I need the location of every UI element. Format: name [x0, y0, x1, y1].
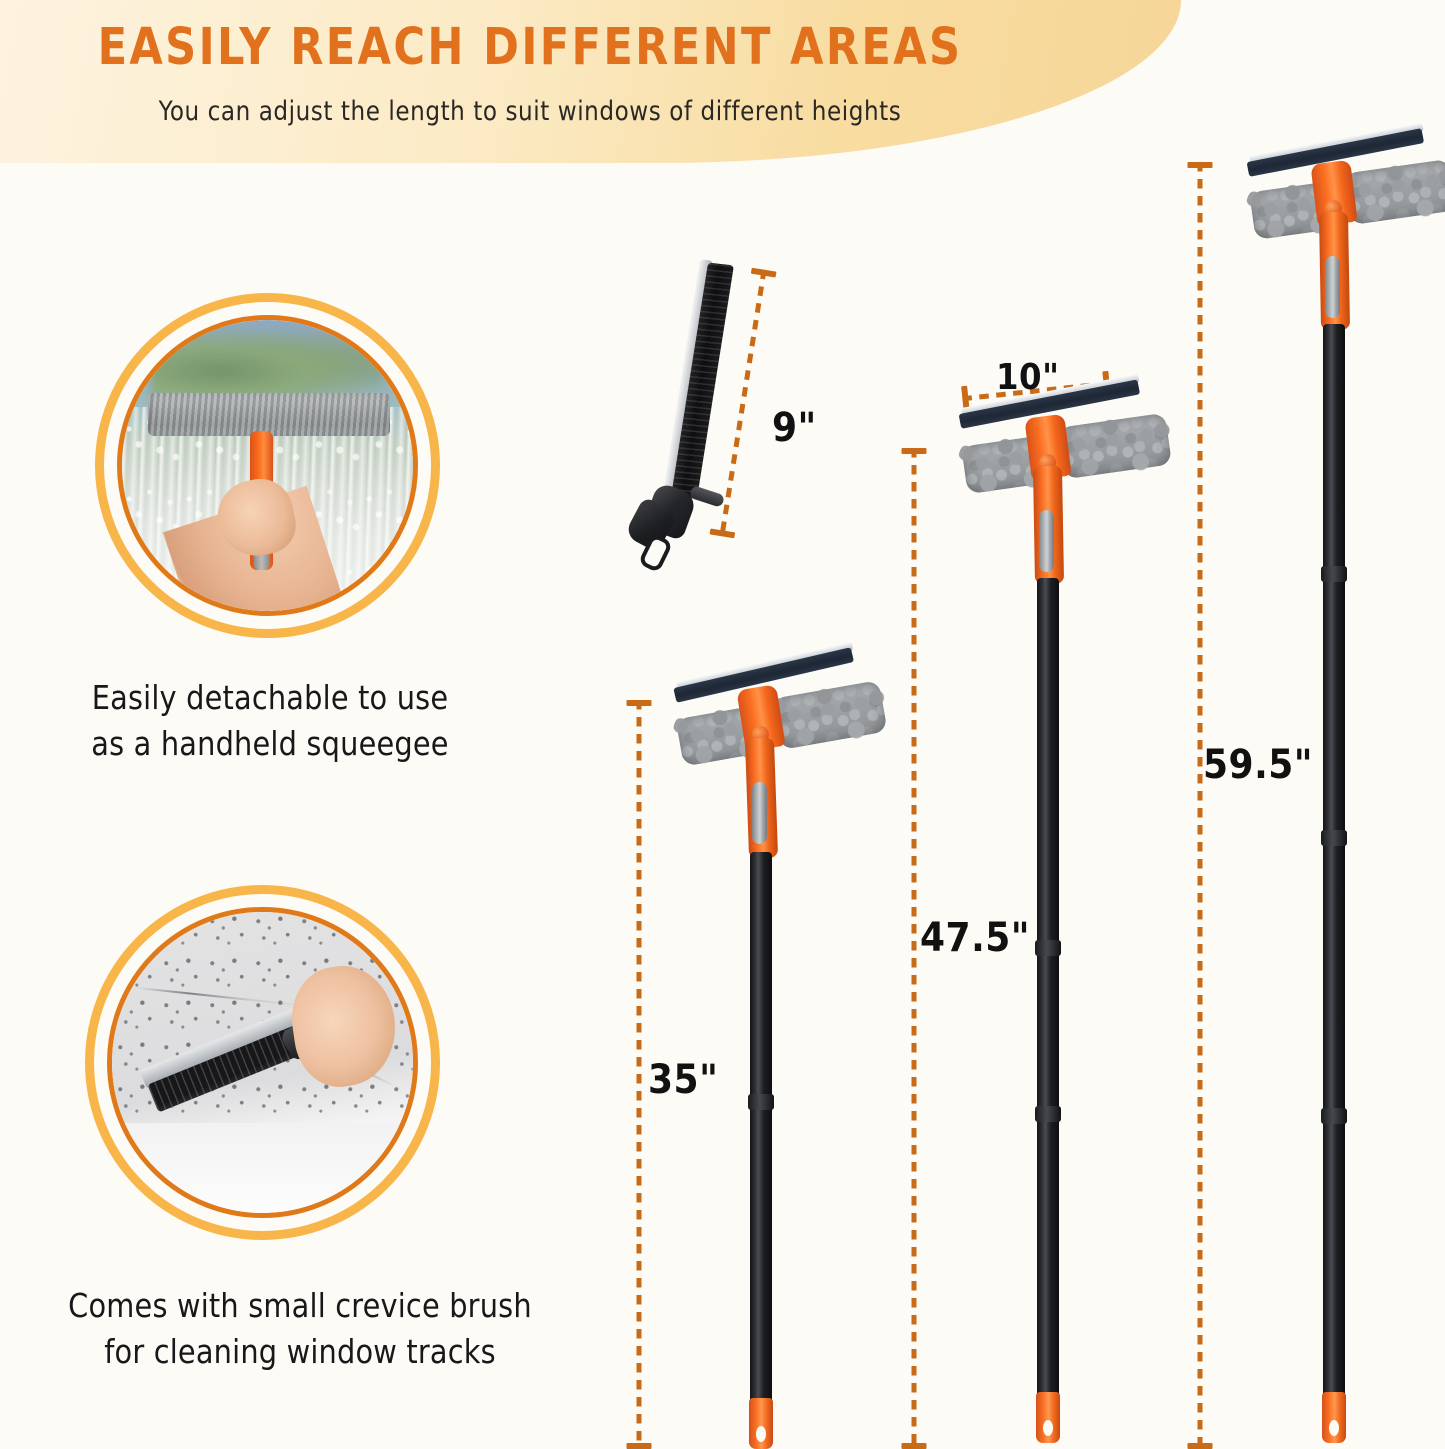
pole-coupler-lower [1035, 1106, 1061, 1122]
pole-hang-hole [1043, 1420, 1053, 1436]
photo-hand-squeegee-on-soapy-window [122, 320, 413, 611]
dimension-cap-bottom [1188, 1443, 1213, 1449]
callout-crevice-brush [85, 885, 440, 1240]
dimension-cap-bottom [902, 1443, 927, 1449]
microfiber-pad-right [1058, 413, 1172, 480]
dimension-label-9in: 9" [772, 405, 817, 451]
page-subtitle: You can adjust the length to suit window… [27, 96, 1034, 127]
dimension-dashed-line [637, 700, 642, 1449]
handle-grip [1325, 256, 1340, 318]
pole-coupler-lower [1321, 1108, 1347, 1124]
microfiber-pad-right [772, 680, 887, 750]
photo-hand-crevice-brush-on-track [112, 912, 413, 1213]
telescopic-pole [1037, 578, 1059, 1402]
dimension-cap-bottom [627, 1443, 652, 1449]
header-banner: EASILY REACH DIFFERENT AREAS You can adj… [0, 0, 1181, 163]
handle-grip [752, 782, 767, 844]
handle-grip [1039, 510, 1054, 572]
callout-1-caption: Easily detachable to use as a handheld s… [47, 675, 493, 766]
telescopic-pole [1323, 324, 1345, 1402]
dimension-label-59in: 59.5" [1203, 742, 1313, 788]
callout-2-caption-line2: for cleaning window tracks [28, 1329, 571, 1375]
pole-coupler-upper [1321, 566, 1347, 582]
infographic-canvas: EASILY REACH DIFFERENT AREAS You can adj… [0, 0, 1445, 1449]
callout-inner-ring [107, 907, 418, 1218]
pole-coupler-upper [1035, 940, 1061, 956]
dimension-label-47in: 47.5" [920, 915, 1030, 961]
dimension-label-35in: 35" [648, 1057, 718, 1103]
callout-2-caption: Comes with small crevice brush for clean… [28, 1283, 571, 1374]
product-squeegee-pole-short [655, 660, 895, 1449]
callout-detachable-squeegee [95, 293, 440, 638]
page-title: EASILY REACH DIFFERENT AREAS [32, 18, 1028, 77]
dimension-dashed-line [912, 448, 917, 1449]
callout-1-caption-line2: as a handheld squeegee [47, 721, 493, 767]
pole-hang-hole [1329, 1420, 1339, 1436]
callout-inner-ring [117, 315, 418, 616]
microfiber-pad-right [1344, 159, 1445, 225]
pole-hang-hole [756, 1426, 766, 1442]
pole-coupler-mid [1321, 830, 1347, 846]
telescopic-pole [750, 852, 772, 1412]
callout-1-caption-line1: Easily detachable to use [47, 675, 493, 721]
callout-2-caption-line1: Comes with small crevice brush [28, 1283, 571, 1329]
product-squeegee-pole-long [1228, 140, 1445, 1449]
dimension-dashed-line [1198, 162, 1203, 1449]
pole-coupler [748, 1094, 774, 1110]
dimension-pole-long [1187, 162, 1213, 1449]
